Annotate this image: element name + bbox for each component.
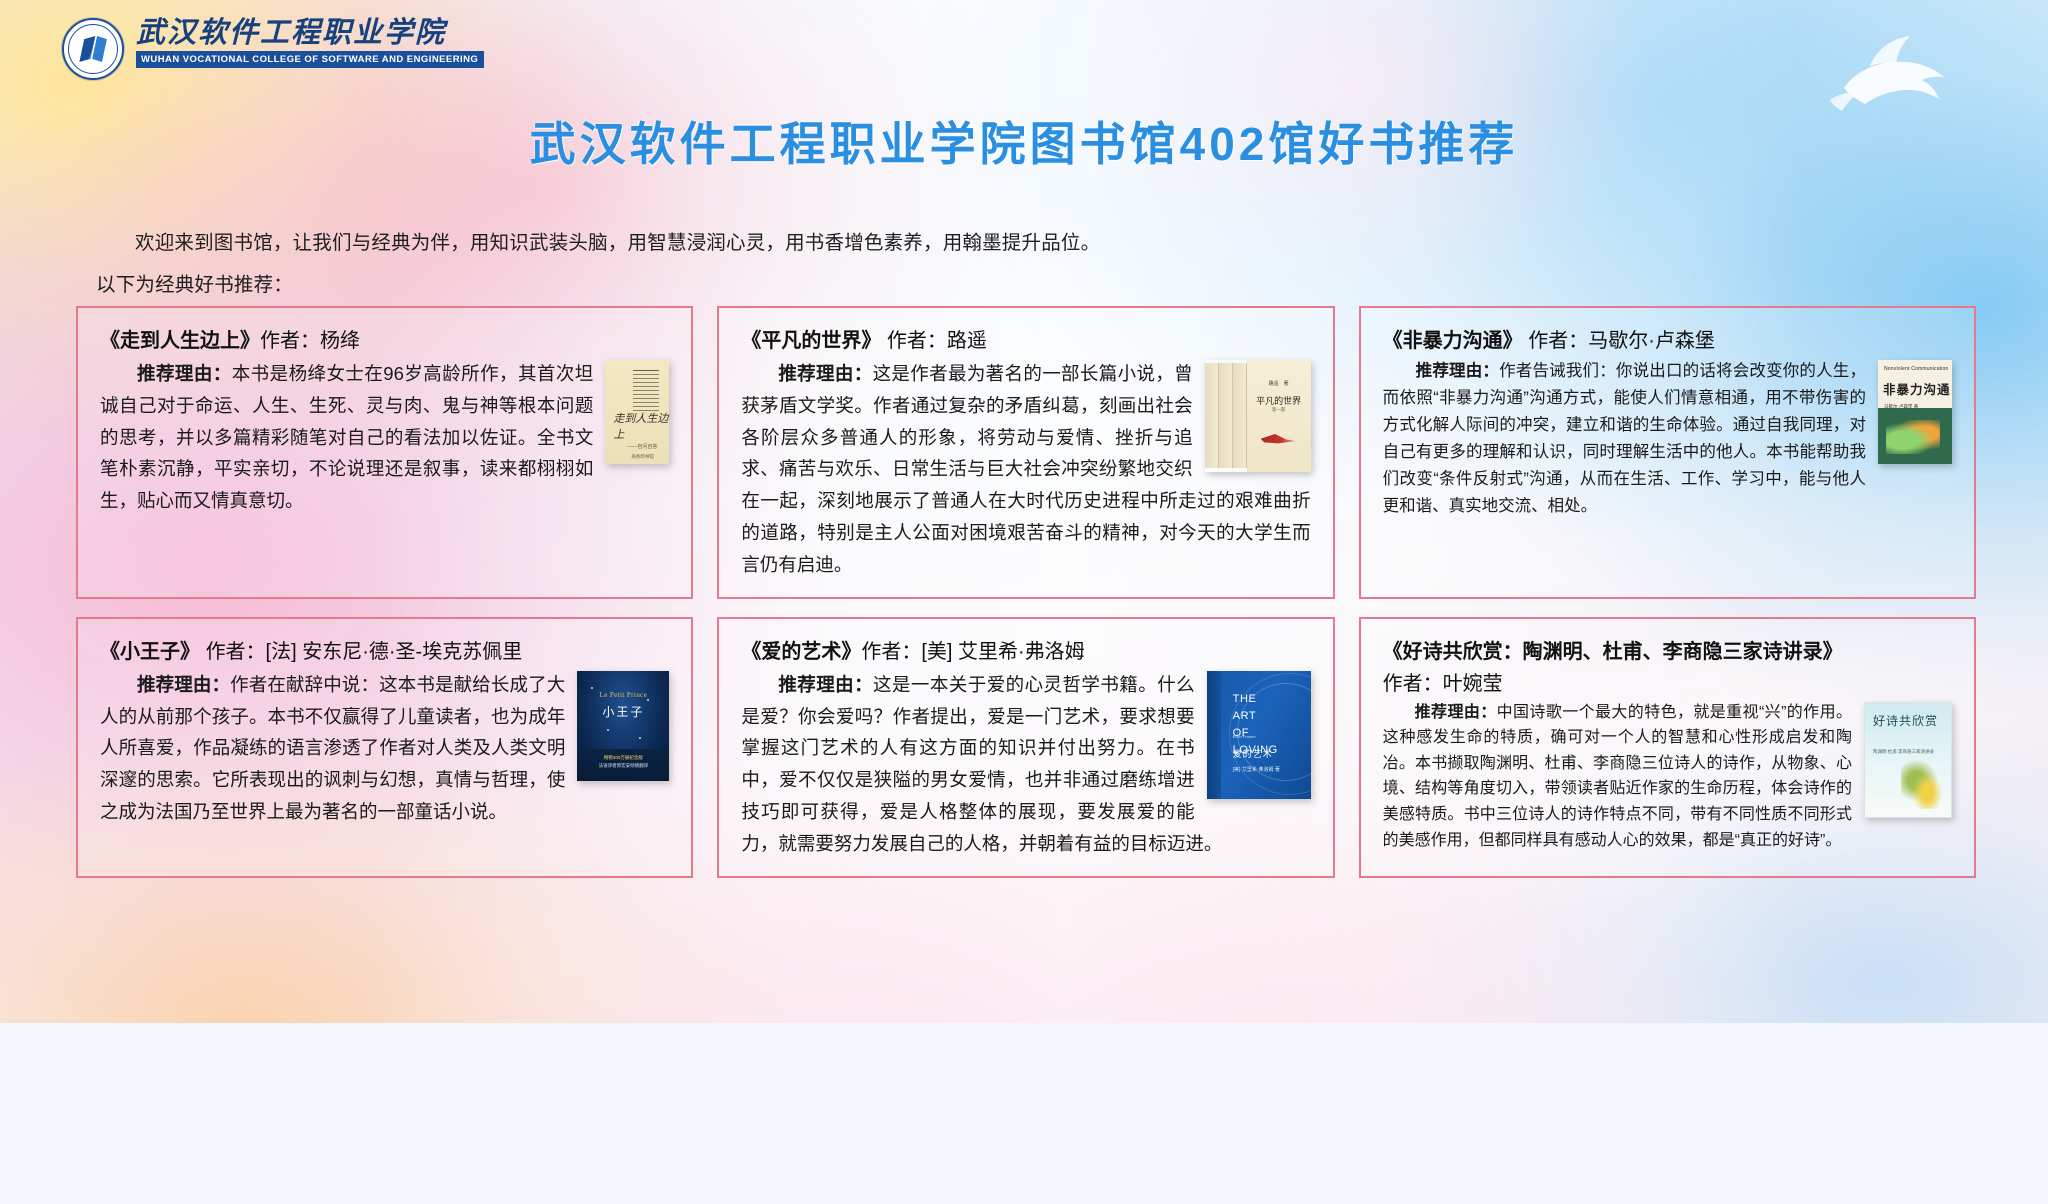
college-name-en: WUHAN VOCATIONAL COLLEGE OF SOFTWARE AND… xyxy=(136,51,484,68)
book-glyph-left xyxy=(79,36,107,62)
cover-volume: 第一部 xyxy=(1247,407,1311,413)
cover-texture-lines xyxy=(633,370,659,371)
reason-label: 推荐理由： xyxy=(1416,362,1499,380)
cover-author: [美] 艾里希·弗洛姆 著 xyxy=(1233,766,1280,773)
book-title: 《爱的艺术》 xyxy=(741,641,861,663)
book-card[interactable]: 《爱的艺术》作者：[美] 艾里希·弗洛姆 THEARTOFLOVING Eric… xyxy=(717,617,1334,878)
book-author-line: 作者：[美] 艾里希·弗洛姆 xyxy=(861,641,1084,663)
cover-star xyxy=(607,729,609,731)
cover-leaf-illustration xyxy=(1886,420,1940,454)
intro-text: 欢迎来到图书馆，让我们与经典为伴，用知识武装头脑，用智慧浸润心灵，用书香增色素养… xyxy=(96,224,1100,304)
book-cover-image: 走到人生边上 ——自问自答 商务印书馆 xyxy=(605,360,669,464)
book-title: 《好诗共欣赏：陶渊明、杜甫、李商隐三家诗讲录》 xyxy=(1383,641,1843,663)
book-author-line: 作者：路遥 xyxy=(887,330,987,352)
cover-star xyxy=(591,687,593,689)
book-card[interactable]: 《非暴力沟通》 作者：马歇尔·卢森堡 Nonviolent Communicat… xyxy=(1359,306,1976,599)
book-title: 《走到人生边上》 xyxy=(100,330,260,352)
cover-english-title: Le Petit Prince xyxy=(577,691,669,699)
college-logo: 武汉软件工程职业学院 WUHAN VOCATIONAL COLLEGE OF S… xyxy=(62,18,484,80)
cover-spine-2 xyxy=(1219,363,1233,468)
reason-text: 作者在献辞中说：这本书是献给长成了大人的从前那个孩子。本书不仅赢得了儿童读者，也… xyxy=(100,674,565,822)
college-name-cn: 武汉软件工程职业学院 xyxy=(136,18,484,48)
book-card[interactable]: 《走到人生边上》作者：杨绛 走到人生边上 ——自问自答 商务印书馆 推荐理由：本… xyxy=(76,306,693,599)
book-card[interactable]: 《平凡的世界》 作者：路遥 路遥 著 平凡的世界 第一部 推荐理由：这是作者最为… xyxy=(717,306,1334,599)
reason-text: 本书是杨绛女士在96岁高龄所作，其首次坦诚自己对于命运、人生、生死、灵与肉、鬼与… xyxy=(100,363,593,511)
cover-publisher: 商务印书馆 xyxy=(631,454,654,460)
book-title-line: 《走到人生边上》作者：杨绛 xyxy=(100,326,669,356)
book-title-line: 《非暴力沟通》 作者：马歇尔·卢森堡 xyxy=(1383,326,1952,356)
cover-author: 路遥 著 xyxy=(1247,380,1311,387)
cover-star xyxy=(639,737,641,739)
cover-title: 走到人生边上 xyxy=(613,410,669,442)
reason-label: 推荐理由： xyxy=(137,674,230,695)
book-glyph-right xyxy=(80,36,108,62)
cover-title: 非暴力沟通 xyxy=(1883,384,1951,398)
cover-front: 路遥 著 平凡的世界 第一部 xyxy=(1247,360,1311,472)
cover-bird-illustration xyxy=(1261,434,1297,446)
book-title: 《非暴力沟通》 xyxy=(1383,330,1523,352)
page-header: 武汉软件工程职业学院 WUHAN VOCATIONAL COLLEGE OF S… xyxy=(0,0,2048,100)
reason-label: 推荐理由： xyxy=(778,674,873,695)
page-title: 武汉软件工程职业学院图书馆402馆好书推荐 xyxy=(0,108,2048,174)
book-cover-image: 好诗共欣赏 陶渊明 杜甫 李商隐三家诗讲录 xyxy=(1864,702,1952,818)
cover-band-line-2: 法语译者郭宏安倾情翻译 xyxy=(577,763,669,769)
book-cover-image: Nonviolent Communication 非暴力沟通 马歇尔·卢森堡 著 xyxy=(1878,360,1952,464)
cover-subtitle: 马歇尔·卢森堡 著 xyxy=(1884,404,1918,410)
book-cover-image: Le Petit Prince 小王子 畅销300万册纪念版 法语译者郭宏安倾情… xyxy=(577,671,669,781)
cover-flower-illustration xyxy=(1901,757,1945,809)
cover-spine-1 xyxy=(1205,363,1219,468)
cover-title: 平凡的世界 xyxy=(1247,394,1311,407)
cover-band: 畅销300万册纪念版 法语译者郭宏安倾情翻译 xyxy=(577,749,669,781)
cover-spine xyxy=(1207,671,1221,799)
book-author-line: 作者：马歇尔·卢森堡 xyxy=(1528,330,1715,352)
book-title-line: 《小王子》 作者：[法] 安东尼·德·圣-埃克苏佩里 xyxy=(100,637,669,667)
book-author-line: 作者：杨绛 xyxy=(260,330,360,352)
intro-line-2: 以下为经典好书推荐： xyxy=(96,266,1100,304)
book-cover-image: 路遥 著 平凡的世界 第一部 xyxy=(1205,360,1311,472)
reason-label: 推荐理由： xyxy=(1415,704,1497,721)
reason-text: 这是一本关于爱的心灵哲学书籍。什么是爱？你会爱吗？作者提出，爱是一门艺术，要求想… xyxy=(741,674,1222,854)
college-logo-text: 武汉软件工程职业学院 WUHAN VOCATIONAL COLLEGE OF S… xyxy=(136,18,484,68)
book-card-grid: 《走到人生边上》作者：杨绛 走到人生边上 ——自问自答 商务印书馆 推荐理由：本… xyxy=(76,306,1976,878)
reason-label: 推荐理由： xyxy=(778,363,872,384)
reason-text: 作者告诫我们：你说出口的话将会改变你的人生，而依照“非暴力沟通”沟通方式，能使人… xyxy=(1383,362,1866,515)
book-reason: 推荐理由：本书是杨绛女士在96岁高龄所作，其首次坦诚自己对于命运、人生、生死、灵… xyxy=(100,358,669,517)
book-reason: 推荐理由：作者告诫我们：你说出口的话将会改变你的人生，而依照“非暴力沟通”沟通方… xyxy=(1383,358,1952,520)
book-title-line: 《爱的艺术》作者：[美] 艾里希·弗洛姆 xyxy=(741,637,1310,667)
cover-subtitle: ——自问自答 xyxy=(627,443,657,450)
college-seal-icon xyxy=(62,18,124,80)
book-author-line: 作者：[法] 安东尼·德·圣-埃克苏佩里 xyxy=(206,641,523,663)
book-title: 《平凡的世界》 xyxy=(741,330,881,352)
intro-line-1: 欢迎来到图书馆，让我们与经典为伴，用知识武装头脑，用智慧浸润心灵，用书香增色素养… xyxy=(96,224,1100,262)
cover-author-en: Erich Fromm xyxy=(1233,734,1256,739)
book-title: 《小王子》 xyxy=(100,641,200,663)
cover-english-title: Nonviolent Communication xyxy=(1884,366,1949,372)
cover-subtitle: 陶渊明 杜甫 李商隐三家诗讲录 xyxy=(1873,749,1934,755)
book-title-line: 《好诗共欣赏：陶渊明、杜甫、李商隐三家诗讲录》 xyxy=(1383,637,1952,667)
cover-band-line-1: 畅销300万册纪念版 xyxy=(577,755,669,761)
book-card[interactable]: 《好诗共欣赏：陶渊明、杜甫、李商隐三家诗讲录》 作者：叶婉莹 好诗共欣赏 陶渊明… xyxy=(1359,617,1976,878)
reason-label: 推荐理由： xyxy=(137,363,232,384)
book-author-line: 作者：叶婉莹 xyxy=(1383,669,1952,700)
reason-text: 中国诗歌一个最大的特色，就是重视“兴”的作用。这种感发生命的特质，确可对一个人的… xyxy=(1383,704,1852,849)
book-card[interactable]: 《小王子》 作者：[法] 安东尼·德·圣-埃克苏佩里 Le Petit Prin… xyxy=(76,617,693,878)
cover-title: 小王子 xyxy=(577,703,669,720)
book-cover-image: THEARTOFLOVING Erich Fromm 爱的艺术 [美] 艾里希·… xyxy=(1207,671,1311,799)
cover-spine-3 xyxy=(1233,363,1247,468)
cover-title: 好诗共欣赏 xyxy=(1873,715,1938,728)
cover-title: 爱的艺术 xyxy=(1233,747,1273,760)
book-title-line: 《平凡的世界》 作者：路遥 xyxy=(741,326,1310,356)
cover-star xyxy=(647,699,649,701)
